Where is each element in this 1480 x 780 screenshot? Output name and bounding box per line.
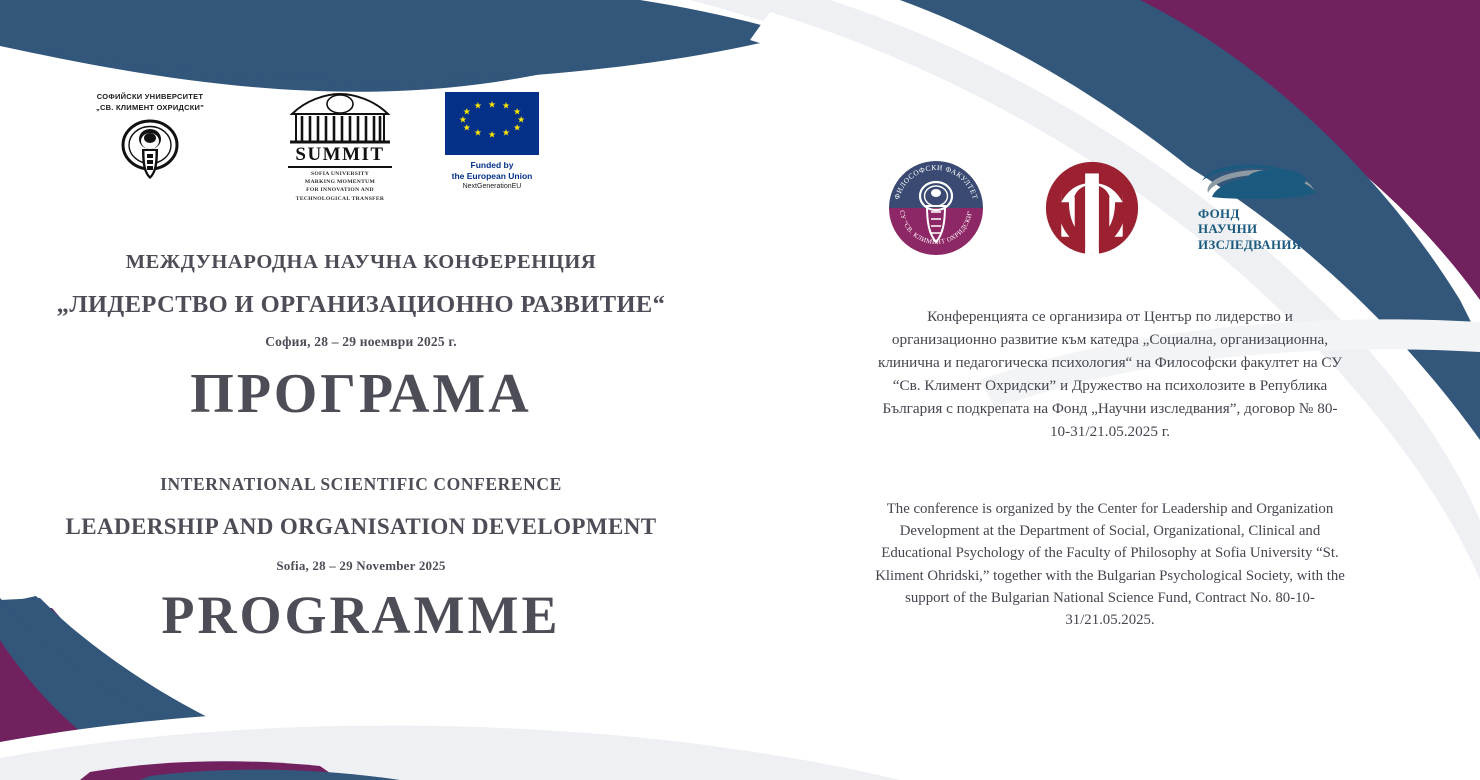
programme-cover-page: СОФИЙСКИ УНИВЕРСИТЕТ „СВ. КЛИМЕНТ ОХРИДС… <box>0 0 1480 780</box>
sofia-university-logo-text: СОФИЙСКИ УНИВЕРСИТЕТ „СВ. КЛИМЕНТ ОХРИДС… <box>96 92 204 114</box>
summit-building-icon <box>286 92 394 144</box>
sofia-university-logo: СОФИЙСКИ УНИВЕРСИТЕТ „СВ. КЛИМЕНТ ОХРИДС… <box>60 92 240 181</box>
bulgarian-conference-kicker: МЕЖДУНАРОДНА НАУЧНА КОНФЕРЕНЦИЯ <box>0 248 722 278</box>
eu-flag-icon: ★ ★ ★ ★ ★ ★ ★ ★ ★ ★ ★ ★ <box>445 92 539 155</box>
summit-rule <box>288 166 392 168</box>
organiser-paragraph-bulgarian: Конференцията се организира от Център по… <box>874 305 1346 444</box>
sponsor-logo-row: СОФИЙСКИ УНИВЕРСИТЕТ „СВ. КЛИМЕНТ ОХРИДС… <box>60 92 600 212</box>
sofia-university-seal-icon <box>121 119 179 181</box>
bulgarian-conference-date: София, 28 – 29 ноември 2025 г. <box>0 334 722 350</box>
english-conference-date: Sofia, 28 – 29 November 2025 <box>0 558 722 574</box>
summit-logo: SUMMIT SOFIA UNIVERSITY MARKING MOMENTUM… <box>284 92 396 203</box>
eu-funding-caption: Funded by the European Union <box>452 160 533 181</box>
science-fund-swoosh-icon <box>1198 163 1316 203</box>
bulgarian-programme-word: ПРОГРАМА <box>0 364 722 426</box>
organiser-paragraph-english: The conference is organized by the Cente… <box>874 498 1346 631</box>
national-science-fund-logo: ФОНД НАУЧНИ ИЗСЛЕДВАНИЯ <box>1198 163 1323 252</box>
organiser-logo-row: ФИЛОСОФСКИ ФАКУЛТЕТ СУ "СВ. КЛИМЕНТ ОХРИ… <box>860 150 1360 265</box>
bulgarian-conference-title: „ЛИДЕРСТВО И ОРГАНИЗАЦИОННО РАЗВИТИЕ“ <box>0 288 722 321</box>
philosophy-faculty-seal-icon: ФИЛОСОФСКИ ФАКУЛТЕТ СУ "СВ. КЛИМЕНТ ОХРИ… <box>886 158 986 258</box>
eu-nextgeneration-caption: NextGenerationEU <box>463 183 522 190</box>
science-fund-logo-text: ФОНД НАУЧНИ ИЗСЛЕДВАНИЯ <box>1198 206 1302 252</box>
english-programme-word: PROGRAMME <box>0 586 722 645</box>
summit-subtitle: SOFIA UNIVERSITY MARKING MOMENTUM FOR IN… <box>296 170 384 204</box>
english-title-block: INTERNATIONAL SCIENTIFIC CONFERENCE LEAD… <box>0 472 722 646</box>
left-column: СОФИЙСКИ УНИВЕРСИТЕТ „СВ. КЛИМЕНТ ОХРИДС… <box>0 0 740 780</box>
right-column: ФИЛОСОФСКИ ФАКУЛТЕТ СУ "СВ. КЛИМЕНТ ОХРИ… <box>860 0 1360 780</box>
summit-wordmark: SUMMIT <box>295 145 384 164</box>
bulgarian-psychological-society-logo-icon <box>1044 160 1140 256</box>
bulgarian-title-block: МЕЖДУНАРОДНА НАУЧНА КОНФЕРЕНЦИЯ „ЛИДЕРСТ… <box>0 248 722 425</box>
eu-funding-logo: ★ ★ ★ ★ ★ ★ ★ ★ ★ ★ ★ ★ Funded by the Eu… <box>440 92 544 190</box>
english-conference-kicker: INTERNATIONAL SCIENTIFIC CONFERENCE <box>0 472 722 497</box>
english-conference-title: LEADERSHIP AND ORGANISATION DEVELOPMENT <box>0 511 722 542</box>
